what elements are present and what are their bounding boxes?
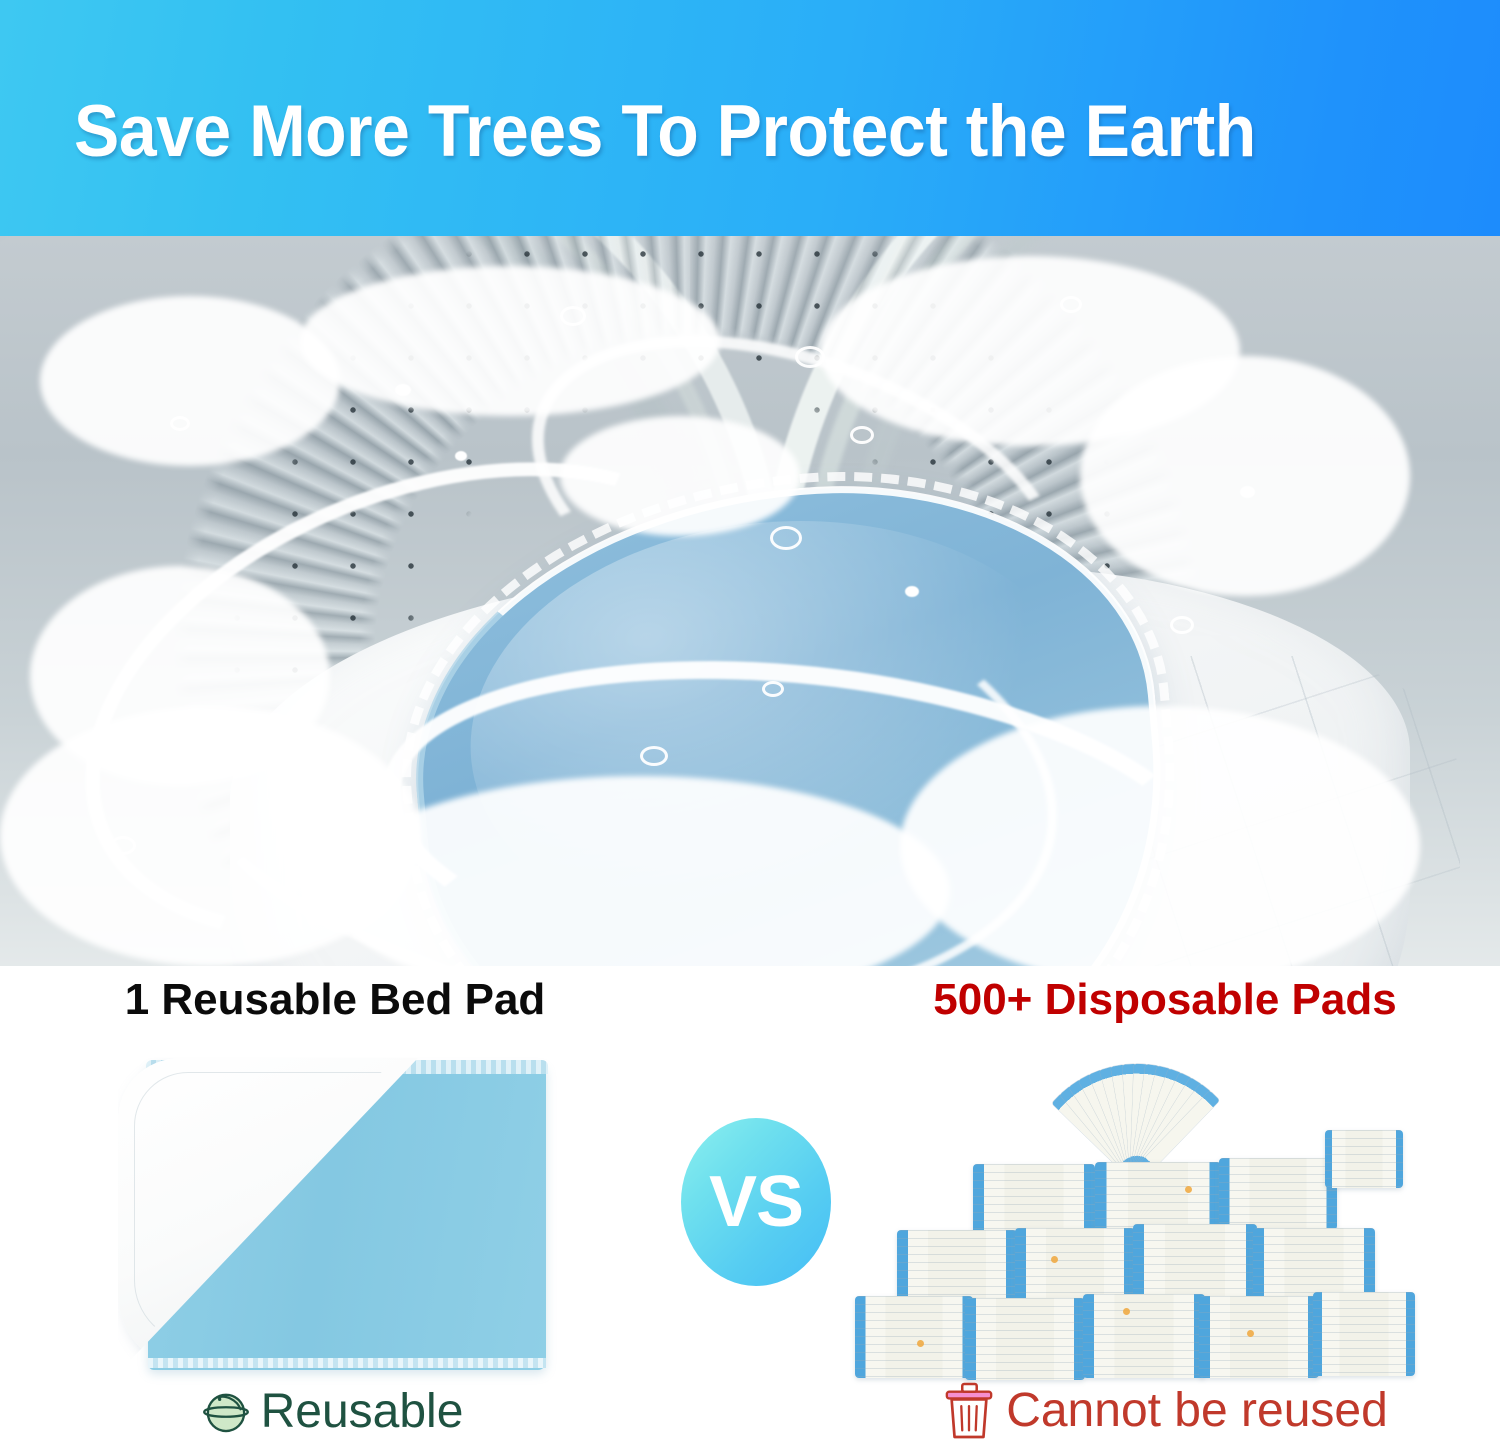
water-speck-3 — [905, 586, 919, 597]
disposable-pads-image — [855, 1058, 1415, 1380]
pad-marker-dot — [1185, 1186, 1192, 1193]
pad-bundle — [1219, 1158, 1337, 1230]
versus-badge: VS — [681, 1118, 831, 1286]
pad-bottom-hem — [148, 1358, 546, 1368]
hero-washing-machine-photo — [0, 236, 1500, 966]
water-droplet-8 — [170, 416, 190, 431]
trash-icon — [942, 1381, 996, 1441]
product-infographic: Save More Trees To Protect the Earth — [0, 0, 1500, 1454]
reusable-pad-image — [118, 1058, 548, 1376]
pad-bundle — [1015, 1228, 1135, 1302]
not-reusable-badge-label: Cannot be reused — [1006, 1382, 1388, 1440]
water-droplet-5 — [850, 426, 874, 444]
splash-blob-9 — [560, 416, 800, 536]
splash-blob-4 — [1080, 356, 1410, 596]
pad-marker-dot — [1247, 1330, 1254, 1337]
right-headline: 500+ Disposable Pads — [830, 972, 1500, 1028]
water-speck-1 — [395, 384, 411, 396]
not-reusable-badge: Cannot be reused — [830, 1381, 1500, 1441]
pad-bundle — [1199, 1296, 1319, 1378]
left-headline: 1 Reusable Bed Pad — [0, 972, 670, 1028]
reusable-badge-label: Reusable — [261, 1383, 464, 1441]
water-droplet-6 — [640, 746, 668, 766]
pad-bundle — [965, 1298, 1085, 1380]
pad-marker-dot — [1051, 1256, 1058, 1263]
pad-bundle — [1253, 1228, 1375, 1300]
header-banner: Save More Trees To Protect the Earth — [0, 0, 1500, 236]
water-droplet-1 — [560, 306, 586, 326]
water-speck-2 — [455, 451, 467, 461]
pad-bundle — [1083, 1294, 1205, 1378]
water-droplet-10 — [1170, 616, 1194, 634]
water-droplet-2 — [795, 346, 825, 368]
water-droplet-7 — [1060, 296, 1082, 313]
pad-marker-dot — [1123, 1308, 1130, 1315]
reusable-badge: Reusable — [0, 1383, 660, 1441]
splash-blob-2 — [300, 266, 720, 416]
pad-bundle — [1313, 1292, 1415, 1376]
pad-bundle — [855, 1296, 973, 1378]
water-droplet-4 — [762, 681, 784, 697]
pad-bundle — [973, 1164, 1095, 1236]
pad-bundle — [1325, 1130, 1403, 1188]
pad-marker-dot — [917, 1340, 924, 1347]
splash-blob-1 — [40, 296, 340, 466]
water-droplet-3 — [770, 526, 802, 550]
water-speck-4 — [1240, 486, 1255, 498]
water-droplet-9 — [110, 836, 136, 855]
pad-bundle — [897, 1230, 1017, 1302]
versus-label: VS — [709, 1166, 803, 1238]
globe-icon — [197, 1384, 255, 1440]
page-title: Save More Trees To Protect the Earth — [74, 86, 1256, 178]
pad-bundle — [1133, 1224, 1257, 1300]
